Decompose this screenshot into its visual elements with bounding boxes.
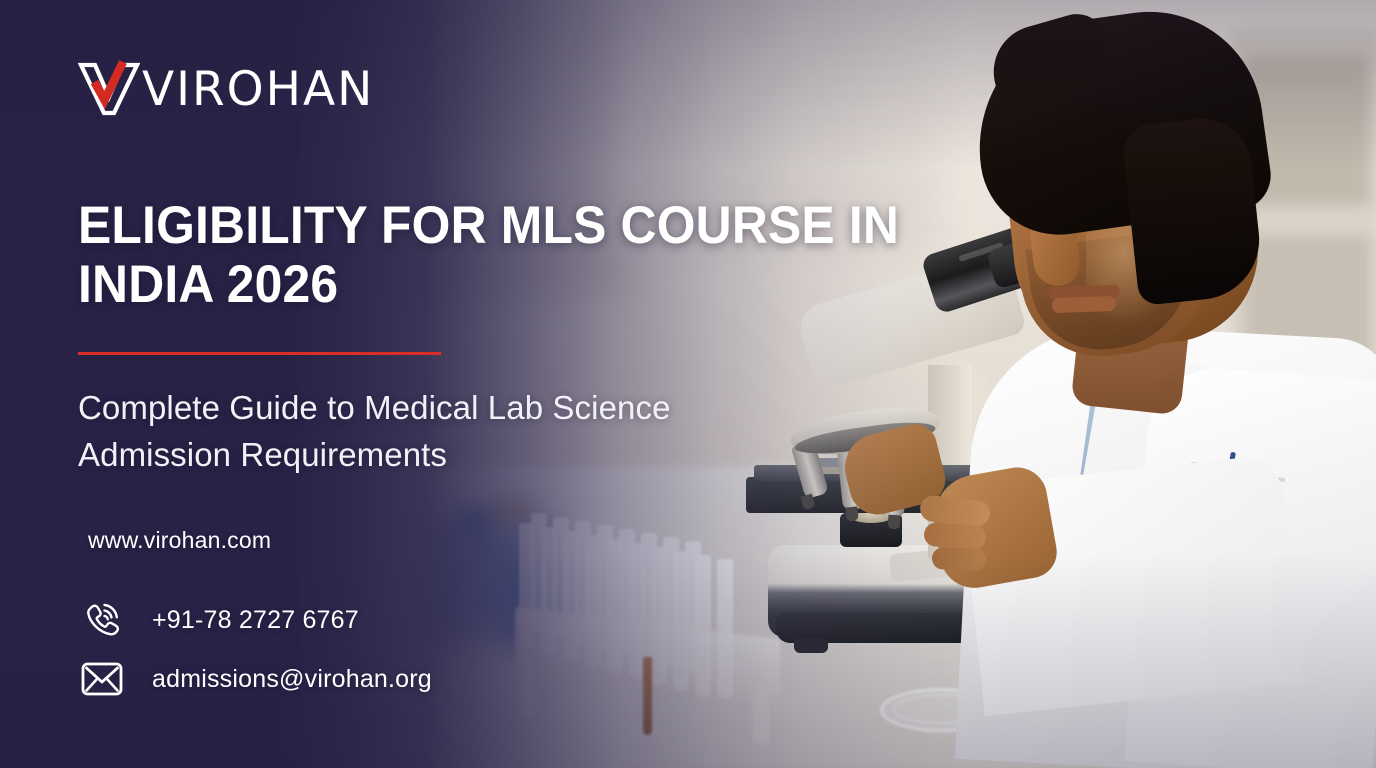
promo-banner: VIROHAN ELIGIBILITY FOR MLS COURSE IN IN… bbox=[0, 0, 1376, 768]
title-divider bbox=[78, 352, 441, 355]
page-subtitle: Complete Guide to Medical Lab Science Ad… bbox=[78, 384, 718, 478]
envelope-icon bbox=[78, 655, 126, 703]
phone-number: +91-78 2727 6767 bbox=[152, 606, 359, 635]
v-checkmark-logo-icon bbox=[78, 60, 140, 118]
banner-content: VIROHAN ELIGIBILITY FOR MLS COURSE IN IN… bbox=[0, 0, 1376, 768]
brand-wordmark: VIROHAN bbox=[142, 66, 374, 113]
contact-phone[interactable]: +91-78 2727 6767 bbox=[78, 596, 359, 644]
email-address: admissions@virohan.org bbox=[152, 665, 432, 694]
page-title: ELIGIBILITY FOR MLS COURSE IN INDIA 2026 bbox=[78, 196, 924, 315]
brand-logo[interactable]: VIROHAN bbox=[78, 60, 374, 118]
website-url[interactable]: www.virohan.com bbox=[88, 527, 271, 554]
contact-email[interactable]: admissions@virohan.org bbox=[78, 655, 432, 703]
phone-call-icon bbox=[78, 596, 126, 644]
